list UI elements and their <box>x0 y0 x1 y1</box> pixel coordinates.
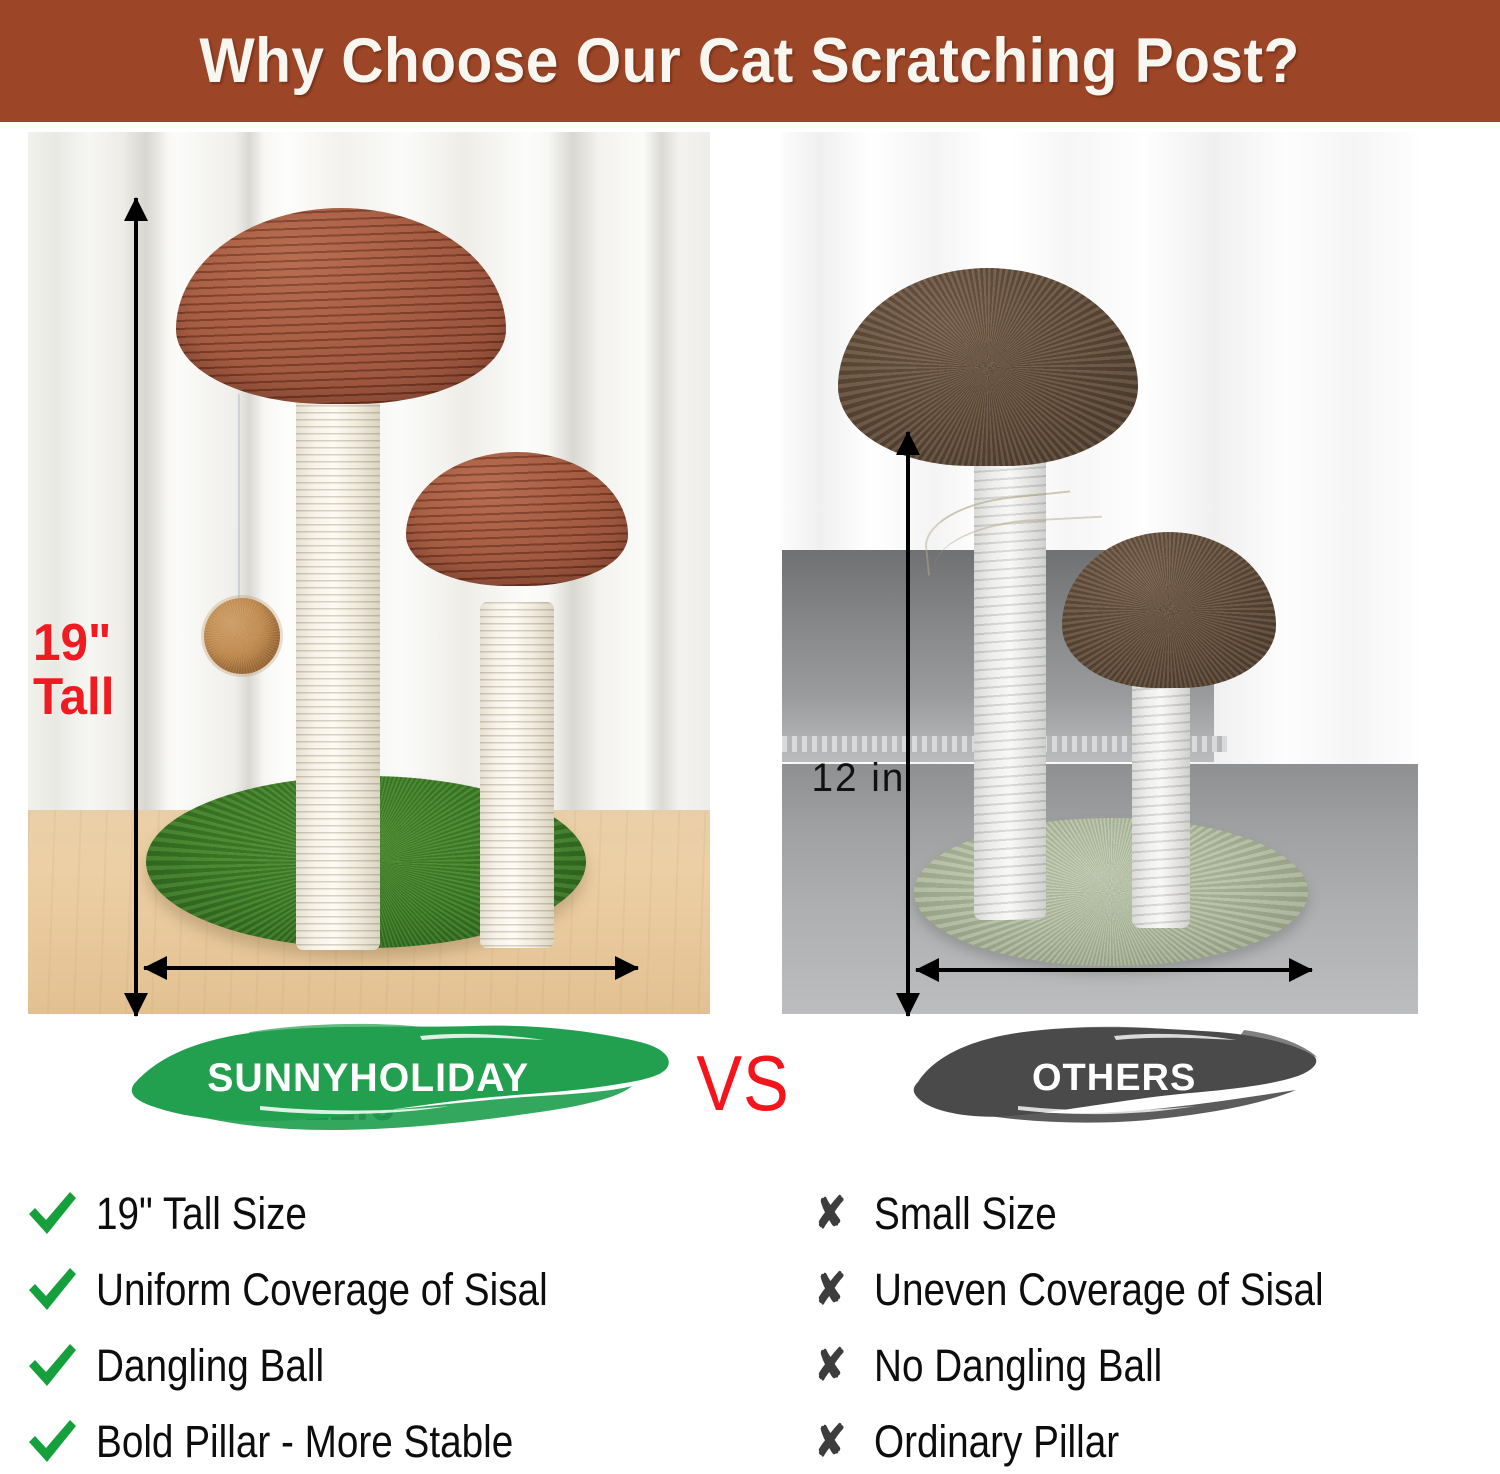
arrow-head-right-icon <box>615 956 639 980</box>
feature-label: Uniform Coverage of Sisal <box>96 1264 548 1316</box>
list-item: Uniform Coverage of Sisal <box>22 1258 621 1322</box>
check-icon <box>22 1190 82 1238</box>
left-photo-scene <box>28 132 710 1014</box>
vs-label: VS <box>696 1038 789 1129</box>
height-unit-word: Tall <box>33 670 147 724</box>
arrow-head-left-icon <box>915 958 939 982</box>
feature-label: Bold Pillar - More Stable <box>96 1416 513 1468</box>
feature-label: Dangling Ball <box>96 1340 324 1392</box>
arrow-head-left-icon <box>143 956 167 980</box>
comparison-photos: 19" Tall 12.6" 12 in <box>0 122 1500 1014</box>
brand-badges-row: SUNNYHOLIDAY VS OTHERS <box>0 1014 1500 1146</box>
list-item: 19" Tall Size <box>22 1182 341 1246</box>
others-badge: OTHERS <box>900 1022 1324 1134</box>
x-icon: ✘ <box>800 1344 860 1388</box>
right-photo-scene <box>782 132 1418 1014</box>
others-product-photo <box>782 132 1418 1014</box>
list-item: Dangling Ball <box>22 1334 361 1398</box>
x-icon: ✘ <box>800 1268 860 1312</box>
arrow-shaft <box>916 968 1312 972</box>
x-icon: ✘ <box>800 1420 860 1464</box>
feature-label: Ordinary Pillar <box>874 1416 1119 1468</box>
height-label-left: 19" Tall <box>33 616 147 724</box>
header-banner: Why Choose Our Cat Scratching Post? <box>0 0 1500 122</box>
list-item: ✘ No Dangling Ball <box>800 1334 1209 1398</box>
height-value: 19" <box>33 616 147 670</box>
arrow-head-up-icon <box>896 431 920 455</box>
x-icon: ✘ <box>800 1192 860 1236</box>
list-item: ✘ Ordinary Pillar <box>800 1410 1159 1474</box>
sunnyholiday-label: SUNNYHOLIDAY <box>207 1056 529 1101</box>
arrow-shaft <box>134 198 138 1016</box>
sisal-post-small <box>1132 680 1190 928</box>
sunnyholiday-badge: SUNNYHOLIDAY <box>120 1020 676 1136</box>
arrow-shaft <box>906 432 910 1016</box>
check-icon <box>22 1418 82 1466</box>
page-title: Why Choose Our Cat Scratching Post? <box>200 25 1300 97</box>
arrow-head-up-icon <box>124 197 148 221</box>
check-icon <box>22 1342 82 1390</box>
feature-label: No Dangling Ball <box>874 1340 1162 1392</box>
feature-label: Small Size <box>874 1188 1057 1240</box>
sisal-post-small <box>480 602 554 948</box>
check-icon <box>22 1266 82 1314</box>
feature-label: 19" Tall Size <box>96 1188 307 1240</box>
height-label-right: 12 in <box>811 756 905 801</box>
curtain-fold <box>644 132 680 820</box>
sisal-post-large <box>296 370 380 950</box>
dangling-string <box>238 394 240 610</box>
others-label: OTHERS <box>1032 1057 1196 1100</box>
dangling-ball <box>204 598 280 674</box>
feature-comparison-lists: 19" Tall Size Uniform Coverage of Sisal … <box>0 1150 1500 1457</box>
list-item: ✘ Small Size <box>800 1182 1087 1246</box>
feature-label: Uneven Coverage of Sisal <box>874 1264 1324 1316</box>
arrow-shaft <box>144 966 638 970</box>
list-item: ✘ Uneven Coverage of Sisal <box>800 1258 1397 1322</box>
arrow-head-right-icon <box>1289 958 1313 982</box>
list-item: Bold Pillar - More Stable <box>22 1410 581 1474</box>
sunnyholiday-product-photo <box>28 132 710 1014</box>
